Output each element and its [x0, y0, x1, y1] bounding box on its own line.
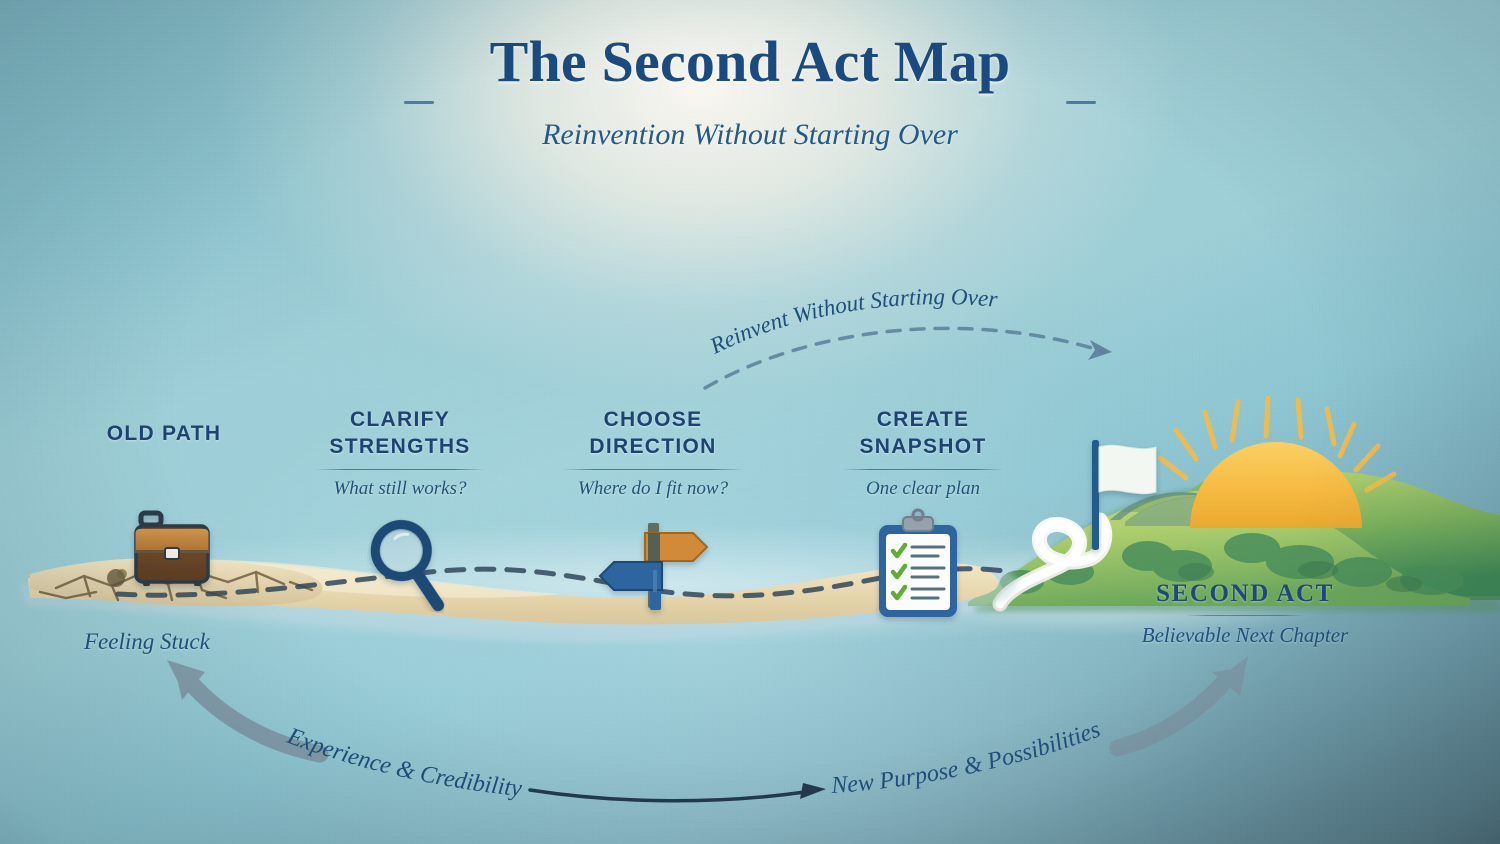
top-arc: Reinvent Without Starting Over — [700, 284, 1112, 388]
top-arc-label: Reinvent Without Starting Over — [705, 284, 999, 359]
infographic-canvas: The Second Act Map Reinvention Without S… — [0, 0, 1500, 844]
bottom-right-label: New Purpose & Possibilities — [830, 717, 1104, 800]
end-block[interactable]: SECOND ACT Believable Next Chapter — [1090, 580, 1400, 648]
stage-old-path-heading: OLD PATH — [64, 420, 264, 447]
sunrise-icon — [1160, 398, 1394, 528]
stage-clarify-strengths[interactable]: CLARIFY STRENGTHS What still works? — [300, 406, 500, 500]
stage-choose-direction-subtitle: Where do I fit now? — [553, 478, 753, 500]
end-title: SECOND ACT — [1090, 580, 1400, 607]
start-caption: Feeling Stuck — [84, 629, 210, 655]
clipboard-checklist-icon — [879, 510, 957, 617]
stage-create-snapshot[interactable]: CREATE SNAPSHOT One clear plan — [823, 406, 1023, 500]
bottom-left-label: Experience & Credibility — [283, 723, 523, 802]
stage-clarify-strengths-heading-2: STRENGTHS — [300, 433, 500, 460]
briefcase-icon — [136, 513, 209, 586]
bottom-right-arrow — [1118, 656, 1248, 748]
bottom-center-arrow — [530, 783, 826, 801]
stage-clarify-strengths-heading-1: CLARIFY — [300, 406, 500, 433]
stage-divider — [842, 469, 1004, 470]
stage-create-snapshot-heading-2: SNAPSHOT — [823, 433, 1023, 460]
stage-old-path[interactable]: OLD PATH — [64, 420, 264, 447]
stage-choose-direction-heading-1: CHOOSE — [553, 406, 753, 433]
end-caption: Believable Next Chapter — [1090, 623, 1400, 648]
stage-create-snapshot-heading-1: CREATE — [823, 406, 1023, 433]
stage-create-snapshot-subtitle: One clear plan — [823, 478, 1023, 500]
stage-divider — [315, 469, 485, 470]
stage-choose-direction[interactable]: CHOOSE DIRECTION Where do I fit now? — [553, 406, 753, 500]
stage-clarify-strengths-subtitle: What still works? — [300, 478, 500, 500]
stage-choose-direction-heading-2: DIRECTION — [553, 433, 753, 460]
end-divider — [1185, 615, 1305, 616]
stage-divider — [562, 469, 744, 470]
